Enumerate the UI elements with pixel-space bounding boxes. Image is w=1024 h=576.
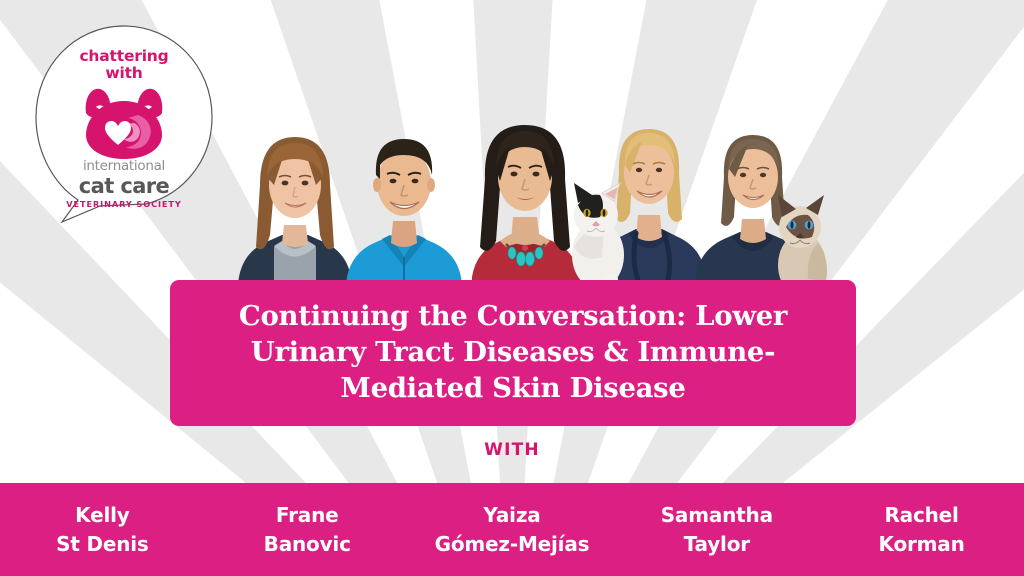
webinar-promo-slide: chattering with international cat care (0, 0, 1024, 576)
speaker-name-bar: Kelly St Denis Frane Banovic Yaiza Gómez… (0, 483, 1024, 576)
logo-tagline: chattering with (79, 48, 168, 81)
icc-cat-care: cat care (66, 175, 182, 197)
title-line-3: Mediated Skin Disease (340, 372, 685, 404)
title-banner: Continuing the Conversation: Lower Urina… (170, 280, 856, 426)
cat-black-white (572, 183, 624, 295)
speaker-last-name: St Denis (0, 530, 205, 559)
title-line-1: Continuing the Conversation: Lower (239, 300, 787, 332)
chattering-with-icc-logo: chattering with international cat care (34, 24, 214, 224)
speaker-first-name: Samantha (614, 501, 819, 530)
speaker-name-yaiza-gomez-mejias: Yaiza Gómez-Mejías (410, 501, 615, 559)
speaker-first-name: Yaiza (410, 501, 615, 530)
speaker-last-name: Gómez-Mejías (410, 530, 615, 559)
icc-international: international (66, 160, 182, 174)
speaker-last-name: Korman (819, 530, 1024, 559)
speaker-name-frane-banovic: Frane Banovic (205, 501, 410, 559)
logo-tagline-line1: chattering (79, 47, 168, 65)
speaker-last-name: Taylor (614, 530, 819, 559)
icc-veterinary-society: VETERINARY SOCIETY (66, 200, 182, 208)
speaker-first-name: Rachel (819, 501, 1024, 530)
icc-wordmark: international cat care VETERINARY SOCIET… (66, 160, 182, 208)
speaker-last-name: Banovic (205, 530, 410, 559)
speaker-name-samantha-taylor: Samantha Taylor (614, 501, 819, 559)
webinar-title: Continuing the Conversation: Lower Urina… (213, 299, 813, 406)
speaker-name-kelly-st-denis: Kelly St Denis (0, 501, 205, 559)
title-line-2: Urinary Tract Diseases & Immune- (251, 336, 775, 368)
with-label: WITH (0, 440, 1024, 460)
speaker-name-rachel-korman: Rachel Korman (819, 501, 1024, 559)
speaker-first-name: Kelly (0, 501, 205, 530)
logo-tagline-line2: with (79, 65, 168, 82)
speaker-first-name: Frane (205, 501, 410, 530)
cat-mark-icon (78, 83, 170, 159)
